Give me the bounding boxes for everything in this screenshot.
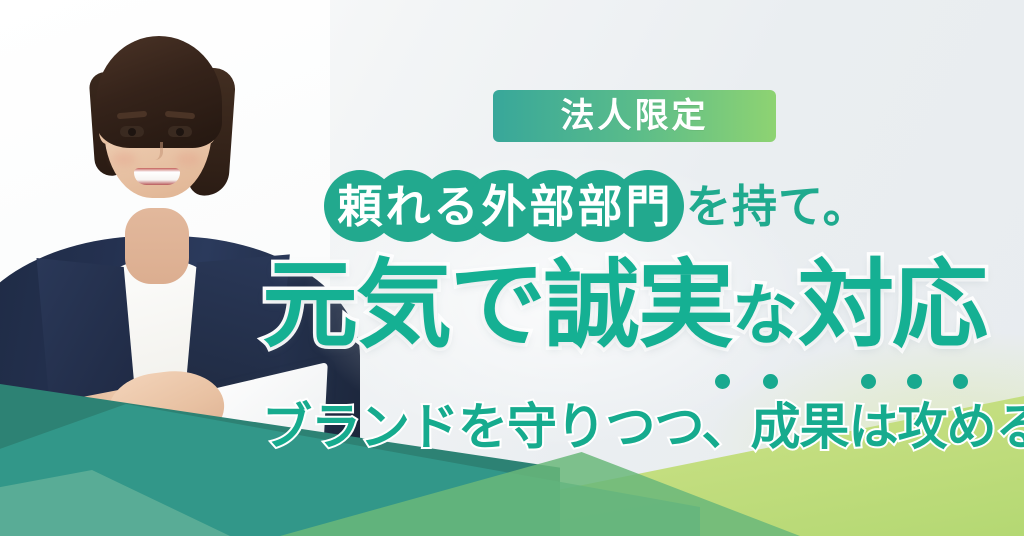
main-headline: 元気で誠実な対応 (262, 258, 986, 354)
tagline-text: ブランドを守りつつ、成果は攻める。 (262, 402, 1024, 452)
scalloped-highlight: 頼れる外部部門 (334, 168, 670, 244)
corporate-only-badge: 法人限定 (493, 90, 776, 142)
scalloped-char-glyph: る (433, 184, 478, 229)
scalloped-char: 部 (526, 168, 578, 244)
scalloped-char: 門 (622, 168, 674, 244)
scalloped-char: れ (382, 168, 434, 244)
scalloped-char-glyph: れ (385, 184, 430, 229)
emphasis-dot (907, 374, 922, 389)
emphasis-dot (715, 374, 730, 389)
pupil-left (128, 128, 136, 136)
cheek-left (112, 152, 136, 166)
emphasis-dot (953, 374, 968, 389)
subheadline-tail: を持て。 (686, 184, 869, 229)
emphasis-dot (763, 374, 778, 389)
headline-part: 元気で (262, 252, 544, 359)
subheadline-line: 頼れる外部部門 を持て。 (334, 168, 869, 244)
copy-block: 法人限定 頼れる外部部門 を持て。 元気で誠実な対応 ブランドを守りつつ、成果は… (250, 0, 1024, 536)
scalloped-char: 外 (478, 168, 530, 244)
emphasis-dots (250, 374, 1024, 394)
scalloped-char-glyph: 外 (481, 184, 526, 229)
scalloped-char-glyph: 部 (577, 184, 622, 229)
scalloped-char: 部 (574, 168, 626, 244)
emphasis-dot (861, 374, 876, 389)
scalloped-char-glyph: 門 (625, 184, 670, 229)
neck-shape (125, 208, 189, 284)
smile-mouth (134, 168, 180, 185)
headline-part: 誠実 (544, 252, 732, 359)
headline-part: な (732, 278, 798, 352)
pupil-right (176, 128, 184, 136)
cheek-right (176, 152, 200, 166)
scalloped-char-glyph: 頼 (337, 184, 382, 229)
scalloped-char: る (430, 168, 482, 244)
badge-label: 法人限定 (561, 99, 709, 133)
scalloped-char: 頼 (334, 168, 386, 244)
headline-part: 対応 (798, 252, 986, 359)
scalloped-char-glyph: 部 (529, 184, 574, 229)
promotional-banner: 法人限定 頼れる外部部門 を持て。 元気で誠実な対応 ブランドを守りつつ、成果は… (0, 0, 1024, 536)
